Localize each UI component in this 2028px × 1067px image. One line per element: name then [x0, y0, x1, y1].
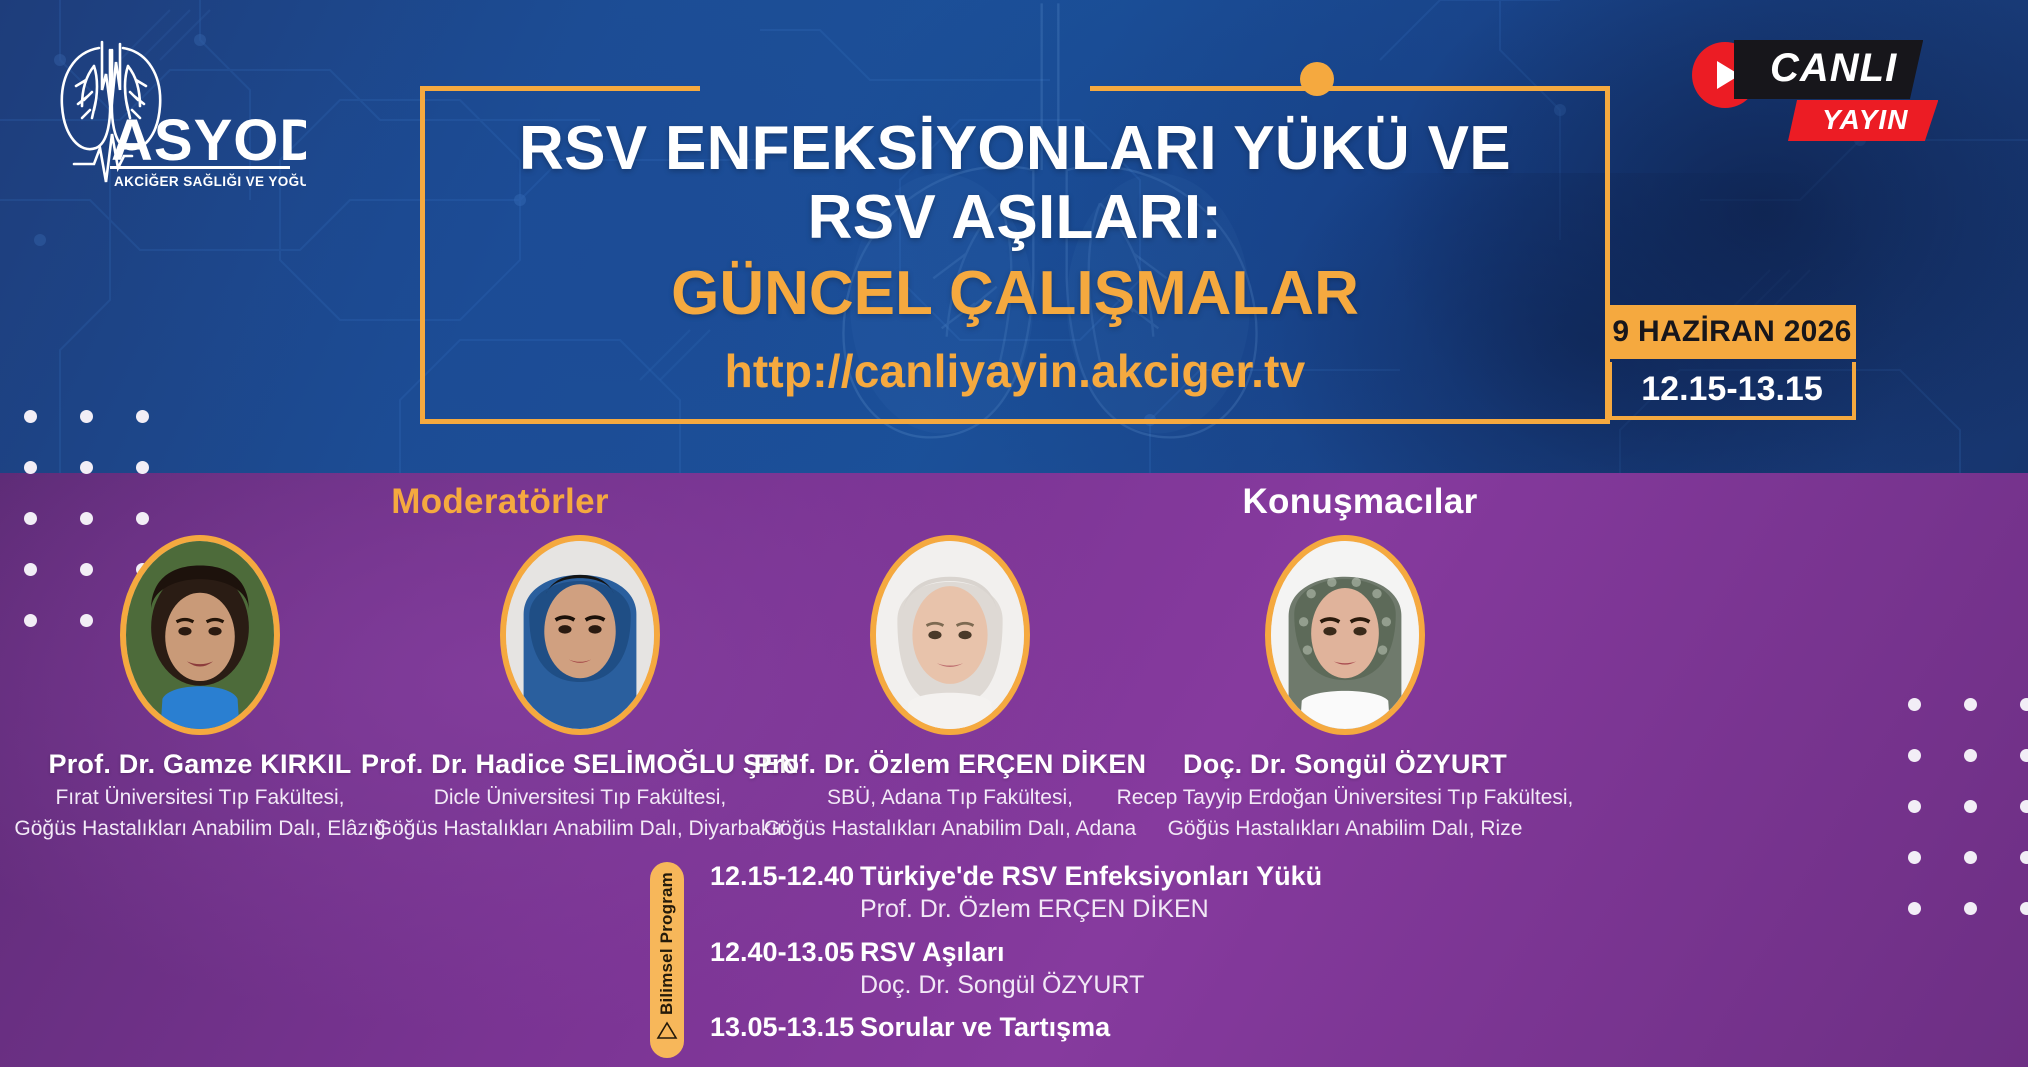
program-title: RSV Aşıları: [860, 936, 1500, 968]
program-presenter: Prof. Dr. Özlem ERÇEN DİKEN: [860, 894, 1500, 925]
asyod-logo: ASYOD AKCİĞER SAĞLIĞI VE YOĞUN BAKIM DER…: [36, 14, 306, 204]
avatar: [1265, 535, 1425, 735]
event-time-badge: 12.15-13.15: [1608, 362, 1856, 420]
program-title: Türkiye'de RSV Enfeksiyonları Yükü: [860, 860, 1500, 892]
avatar: [120, 535, 280, 735]
title-frame-top-right-segment: [1090, 86, 1610, 91]
avatar: [870, 535, 1030, 735]
svg-text:AKCİĞER SAĞLIĞI VE YOĞUN BAKIM: AKCİĞER SAĞLIĞI VE YOĞUN BAKIM DERNEĞİ: [114, 174, 306, 189]
program-row: 13.05-13.15 Sorular ve Tartışma: [710, 1011, 1500, 1043]
program-tab-label: Bilimsel Program: [657, 872, 677, 1015]
speakers-heading: Konuşmacılar: [1060, 482, 1660, 522]
speaker-affiliation-line2: Göğüs Hastalıkları Anabilim Dalı, Rize: [1085, 816, 1605, 842]
program-tab: Bilimsel Program: [650, 862, 684, 1058]
live-label-yayin: YAYIN: [1788, 100, 1938, 141]
speaker-card-2: Doç. Dr. Songül ÖZYURT Recep Tayyip Erdo…: [1085, 535, 1605, 843]
stream-url[interactable]: http://canliyayin.akciger.tv: [420, 344, 1610, 398]
program-row: 12.15-12.40 Türkiye'de RSV Enfeksiyonlar…: [710, 860, 1500, 926]
program-time: 12.15-12.40: [710, 860, 860, 926]
event-date-badge: 9 HAZİRAN 2026: [1608, 305, 1856, 359]
speaker-affiliation-line1: Recep Tayyip Erdoğan Üniversitesi Tıp Fa…: [1085, 785, 1605, 811]
program-time: 13.05-13.15: [710, 1011, 860, 1043]
moderators-heading: Moderatörler: [200, 482, 800, 522]
title-line-3-highlight: GÜNCEL ÇALIŞMALAR: [420, 257, 1610, 330]
speaker-name: Doç. Dr. Songül ÖZYURT: [1085, 749, 1605, 780]
title-line-2: RSV AŞILARI:: [420, 183, 1610, 252]
program-rows: 12.15-12.40 Türkiye'de RSV Enfeksiyonlar…: [710, 860, 1500, 1054]
avatar: [500, 535, 660, 735]
webinar-poster: ASYOD AKCİĞER SAĞLIĞI VE YOĞUN BAKIM DER…: [0, 0, 2028, 1067]
title-block: RSV ENFEKSİYONLARI YÜKÜ VE RSV AŞILARI: …: [420, 92, 1610, 398]
live-label-canli: CANLI: [1734, 40, 1923, 99]
frame-node-dot: [1300, 62, 1334, 96]
title-frame-top-left-segment: [420, 86, 700, 91]
dot-grid-right: [1908, 698, 2028, 915]
program-title: Sorular ve Tartışma: [860, 1011, 1500, 1043]
svg-text:ASYOD: ASYOD: [111, 108, 306, 173]
title-line-1: RSV ENFEKSİYONLARI YÜKÜ VE: [420, 114, 1610, 183]
poster-header: ASYOD AKCİĞER SAĞLIĞI VE YOĞUN BAKIM DER…: [0, 0, 2028, 473]
program-presenter: Doç. Dr. Songül ÖZYURT: [860, 970, 1500, 1001]
triangle-icon: [656, 1021, 678, 1040]
program-time: 12.40-13.05: [710, 936, 860, 1002]
live-broadcast-badge[interactable]: CANLI YAYIN: [1692, 38, 1992, 148]
program-row: 12.40-13.05 RSV Aşıları Doç. Dr. Songül …: [710, 936, 1500, 1002]
